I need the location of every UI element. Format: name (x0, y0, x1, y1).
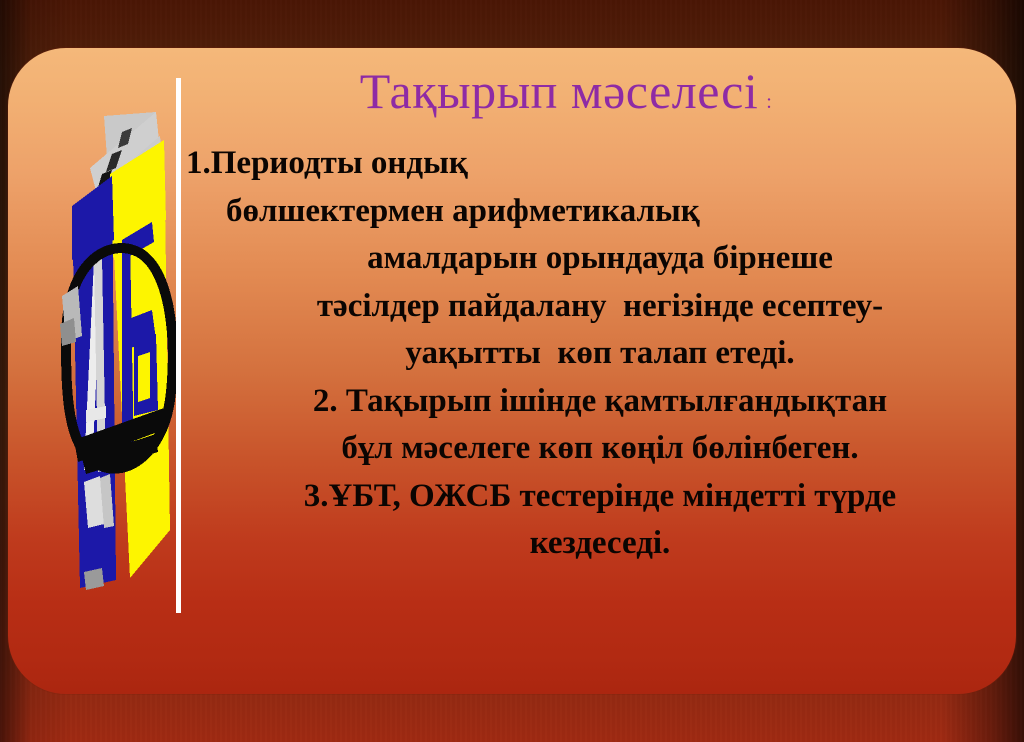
presentation-slide: Тақырып мәселесі: 1.Периодты ондық бөлше… (0, 0, 1024, 742)
body-line-7: бұл мәселеге көп көңіл бөлінбеген. (186, 425, 1014, 473)
abai-emblem-clipart (60, 110, 182, 610)
emblem-icon (60, 110, 182, 610)
page-title-colon: : (766, 91, 772, 113)
body-line-3: амалдарын орындауда бірнеше (186, 235, 1014, 283)
body-line-8: 3.ҰБТ, ОЖСБ тестерінде міндетті түрде (186, 473, 1014, 521)
body-line-2: бөлшектермен арифметикалық (186, 188, 1014, 236)
body-line-5: уақытты көп талап етеді. (186, 330, 1014, 378)
body-line-6: 2. Тақырып ішінде қамтылғандықтан (186, 378, 1014, 426)
page-title: Тақырып мәселесі: (186, 66, 946, 116)
body-text-block: 1.Периодты ондық бөлшектермен арифметика… (186, 140, 1014, 568)
page-title-text: Тақырып мәселесі (360, 63, 759, 119)
slide-content-panel: Тақырып мәселесі: 1.Периодты ондық бөлше… (8, 48, 1016, 694)
body-line-1: 1.Периодты ондық (186, 140, 1014, 188)
vertical-divider (176, 78, 181, 613)
body-line-4: тәсілдер пайдалану негізінде есептеу- (186, 283, 1014, 331)
body-line-9: кездеседі. (186, 520, 1014, 568)
